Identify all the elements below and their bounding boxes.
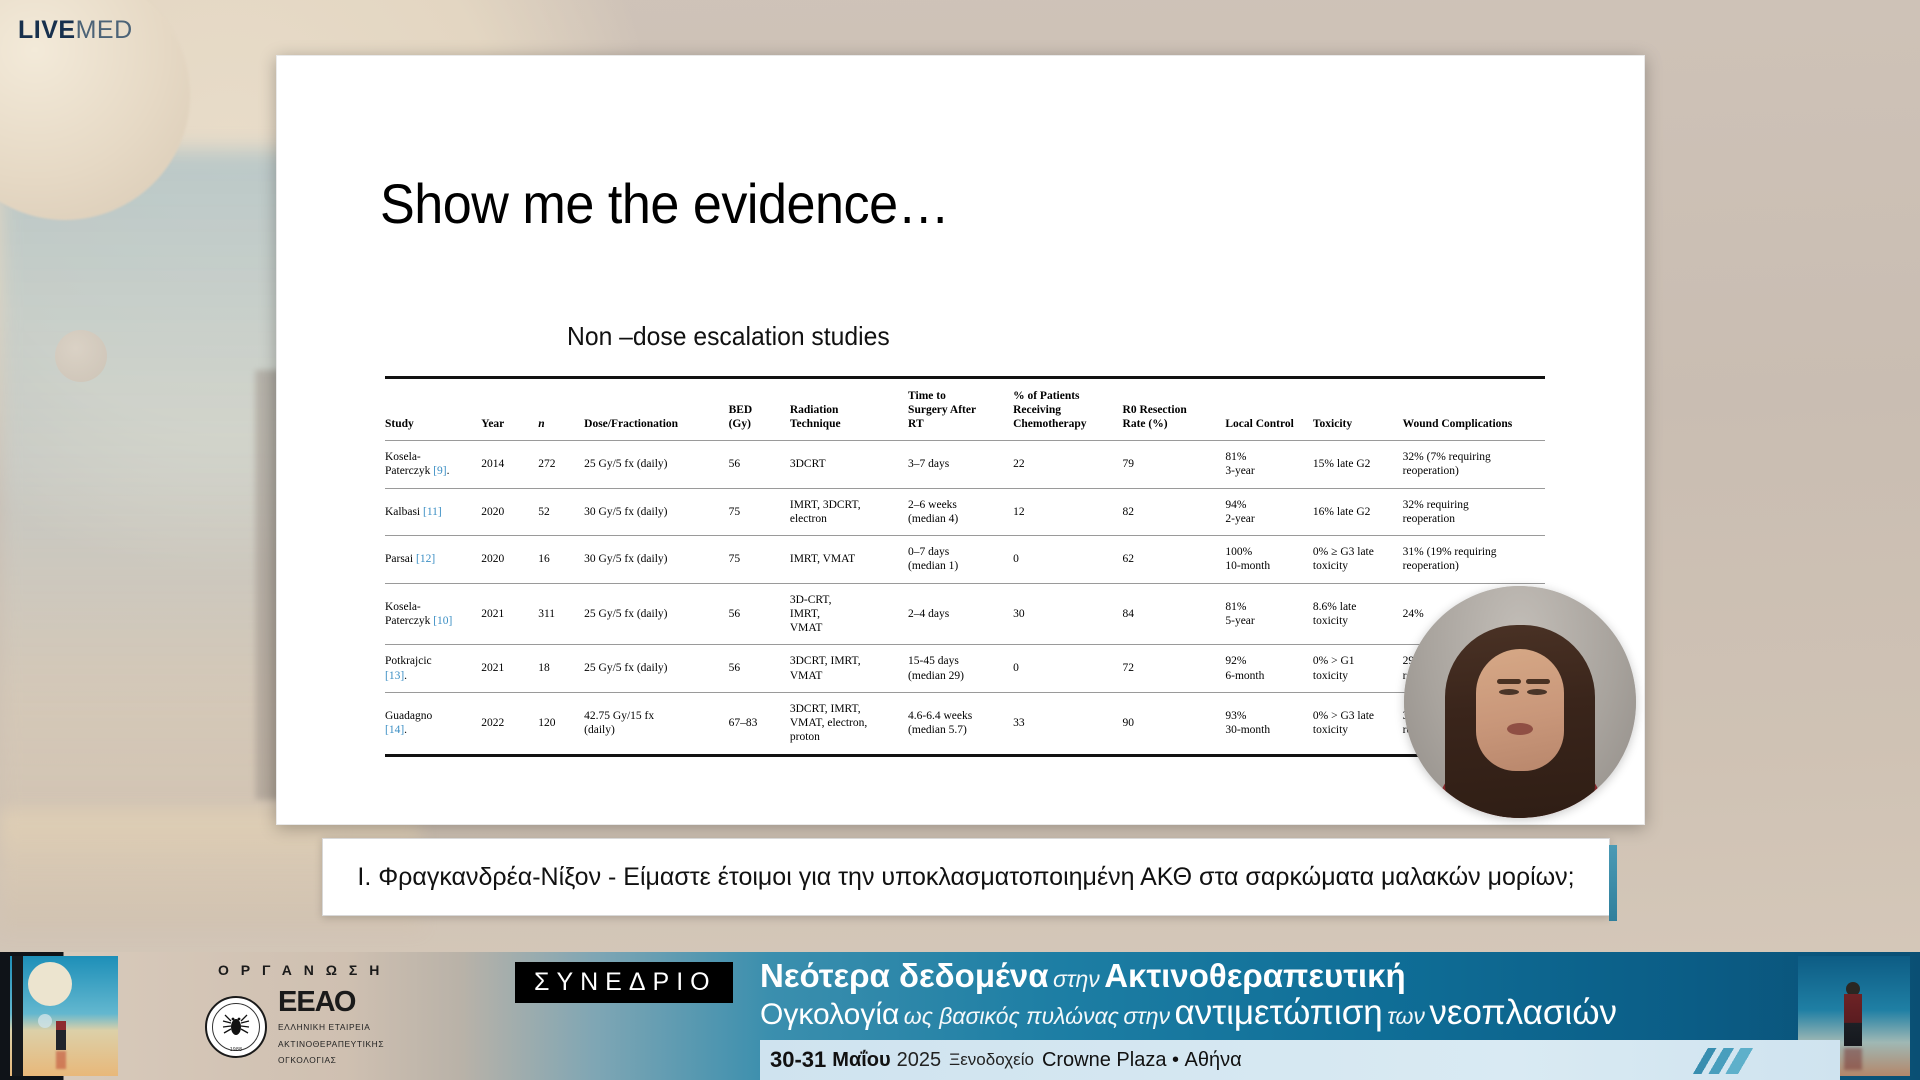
cell-chemotherapy: 12 [1013, 488, 1122, 536]
cell-chemotherapy: 30 [1013, 583, 1122, 645]
cell-year: 2020 [481, 536, 538, 584]
eeao-text-block: ΕΕΑΟ ΕΛΛΗΝΙΚΗ ΕΤΑΙΡΕΙΑ ΑΚΤΙΝΟΘΕΡΑΠΕΥΤΙΚΗ… [278, 988, 384, 1067]
cell-n: 120 [538, 692, 584, 755]
evidence-table: Study Year n Dose/Fractionation BED (Gy)… [385, 376, 1545, 757]
cell-technique: IMRT, VMAT [790, 536, 908, 584]
cell-r0-resection: 62 [1123, 536, 1226, 584]
headline-1-a: Νεότερα δεδομένα [760, 957, 1049, 994]
event-venue-label: Ξενοδοχείο [949, 1050, 1034, 1070]
cell-dose: 30 Gy/5 fx (daily) [584, 488, 728, 536]
cell-local-control: 81% 5-year [1225, 583, 1313, 645]
table-header-row: Study Year n Dose/Fractionation BED (Gy)… [385, 378, 1545, 441]
cell-dose: 25 Gy/5 fx (daily) [584, 441, 728, 489]
event-headline: Νεότερα δεδομένα στην Ακτινοθεραπευτική … [760, 958, 1617, 1031]
eeao-subtitle-1: ΕΛΛΗΝΙΚΗ ΕΤΑΙΡΕΙΑ [278, 1021, 384, 1034]
study-reference-link[interactable]: [14] [385, 724, 404, 736]
event-date-days: 30-31 [770, 1047, 826, 1073]
table-row: Kosela- Paterczyk [10]202131125 Gy/5 fx … [385, 583, 1545, 645]
webcam-eyebrow-right [1526, 679, 1550, 684]
cell-dose: 42.75 Gy/15 fx (daily) [584, 692, 728, 755]
event-date-month: Μαΐου [832, 1049, 890, 1072]
cell-wound-complications: 32% (7% requiring reoperation) [1403, 441, 1545, 489]
banner-left-artwork [10, 956, 118, 1076]
headline-2-c: στην [1123, 1003, 1170, 1029]
screen-root: LIVEMED Show me the evidence… Non –dose … [0, 0, 1920, 1080]
col-header-toxicity: Toxicity [1313, 378, 1403, 441]
cell-year: 2021 [481, 583, 538, 645]
col-header-n: n [538, 378, 584, 441]
study-reference-link[interactable]: [9] [433, 465, 446, 477]
logo-live-text: LIVE [18, 16, 76, 44]
background-moon-icon [55, 330, 107, 382]
seal-year-text: 1988 [230, 1047, 242, 1053]
study-reference-link[interactable]: [10] [433, 615, 452, 627]
banner-right-figure [1844, 994, 1862, 1046]
cell-year: 2014 [481, 441, 538, 489]
cell-r0-resection: 82 [1123, 488, 1226, 536]
col-header-wound-complications: Wound Complications [1403, 378, 1545, 441]
col-header-r0-resection: R0 Resection Rate (%) [1123, 378, 1226, 441]
cell-time-to-surgery: 15-45 days (median 29) [908, 645, 1013, 693]
cell-year: 2021 [481, 645, 538, 693]
banner-swoosh-icon [1685, 1048, 1762, 1074]
event-type-tag: ΣΥΝΕΔΡΙΟ [515, 962, 733, 1003]
cell-technique: 3DCRT, IMRT, VMAT [790, 645, 908, 693]
headline-1-c: Ακτινοθεραπευτική [1104, 957, 1405, 994]
eeao-seal-emblem: 1988 [205, 996, 267, 1058]
cell-chemotherapy: 0 [1013, 645, 1122, 693]
cell-toxicity: 0% > G3 late toxicity [1313, 692, 1403, 755]
cell-time-to-surgery: 2–4 days [908, 583, 1013, 645]
cell-technique: 3D-CRT, IMRT, VMAT [790, 583, 908, 645]
cell-dose: 25 Gy/5 fx (daily) [584, 583, 728, 645]
eeao-logo: 1988 ΕΕΑΟ ΕΛΛΗΝΙΚΗ ΕΤΑΙΡΕΙΑ ΑΚΤΙΝΟΘΕΡΑΠΕ… [205, 988, 384, 1067]
col-header-year: Year [481, 378, 538, 441]
cell-local-control: 92% 6-month [1225, 645, 1313, 693]
table-row: Kalbasi [11]20205230 Gy/5 fx (daily)75IM… [385, 488, 1545, 536]
cell-local-control: 100% 10-month [1225, 536, 1313, 584]
logo-med-text: MED [76, 16, 133, 44]
banner-left-reflection [56, 1051, 66, 1069]
cell-bed: 67–83 [729, 692, 790, 755]
cell-bed: 75 [729, 536, 790, 584]
cell-bed: 75 [729, 488, 790, 536]
session-caption-bar: Ι. Φραγκανδρέα-Νίξον - Είμαστε έτοιμοι γ… [322, 838, 1610, 916]
cell-toxicity: 8.6% late toxicity [1313, 583, 1403, 645]
table-row: Parsai [12]20201630 Gy/5 fx (daily)75IMR… [385, 536, 1545, 584]
eeao-subtitle-2: ΑΚΤΙΝΟΘΕΡΑΠΕΥΤΙΚΗΣ [278, 1038, 384, 1051]
cell-technique: 3DCRT, IMRT, VMAT, electron, proton [790, 692, 908, 755]
event-date-year: 2025 [897, 1049, 942, 1072]
cell-study: Kalbasi [11] [385, 488, 481, 536]
cell-n: 16 [538, 536, 584, 584]
cell-local-control: 94% 2-year [1225, 488, 1313, 536]
event-headline-line-2: Ογκολογία ως βασικός πυλώνας στην αντιμε… [760, 994, 1617, 1032]
cell-study: Kosela- Paterczyk [10] [385, 583, 481, 645]
col-header-dose: Dose/Fractionation [584, 378, 728, 441]
cell-year: 2022 [481, 692, 538, 755]
cell-time-to-surgery: 0–7 days (median 1) [908, 536, 1013, 584]
col-header-local-control: Local Control [1225, 378, 1313, 441]
study-reference-link[interactable]: [13] [385, 670, 404, 682]
cell-chemotherapy: 0 [1013, 536, 1122, 584]
cell-local-control: 81% 3-year [1225, 441, 1313, 489]
evidence-table-wrapper: Study Year n Dose/Fractionation BED (Gy)… [385, 376, 1545, 757]
eeao-acronym: ΕΕΑΟ [278, 988, 384, 1017]
cell-bed: 56 [729, 645, 790, 693]
event-headline-line-1: Νεότερα δεδομένα στην Ακτινοθεραπευτική [760, 958, 1617, 994]
banner-left-figure [56, 1024, 66, 1050]
col-header-technique: Radiation Technique [790, 378, 908, 441]
cell-dose: 30 Gy/5 fx (daily) [584, 536, 728, 584]
cell-chemotherapy: 22 [1013, 441, 1122, 489]
table-body: Kosela- Paterczyk [9].201427225 Gy/5 fx … [385, 441, 1545, 756]
cell-n: 52 [538, 488, 584, 536]
session-caption-text: Ι. Φραγκανδρέα-Νίξον - Είμαστε έτοιμοι γ… [357, 861, 1574, 893]
cell-toxicity: 16% late G2 [1313, 488, 1403, 536]
cell-dose: 25 Gy/5 fx (daily) [584, 645, 728, 693]
cell-time-to-surgery: 3–7 days [908, 441, 1013, 489]
col-header-chemotherapy: % of Patients Receiving Chemotherapy [1013, 378, 1122, 441]
col-header-study: Study [385, 378, 481, 441]
event-venue-name: Crowne Plaza • Αθήνα [1042, 1049, 1242, 1072]
cell-technique: 3DCRT [790, 441, 908, 489]
crab-icon [221, 1013, 251, 1039]
table-row: Potkrajcic [13].20211825 Gy/5 fx (daily)… [385, 645, 1545, 693]
cell-local-control: 93% 30-month [1225, 692, 1313, 755]
cell-technique: IMRT, 3DCRT, electron [790, 488, 908, 536]
cell-year: 2020 [481, 488, 538, 536]
cell-bed: 56 [729, 583, 790, 645]
cell-n: 311 [538, 583, 584, 645]
cell-r0-resection: 84 [1123, 583, 1226, 645]
table-caption: Non –dose escalation studies [567, 321, 890, 352]
headline-2-a: Ογκολογία [760, 998, 899, 1031]
cell-study: Kosela- Paterczyk [9]. [385, 441, 481, 489]
col-header-bed: BED (Gy) [729, 378, 790, 441]
study-reference-link[interactable]: [12] [416, 553, 435, 565]
cell-wound-complications: 31% (19% requiring reoperation) [1403, 536, 1545, 584]
cell-study: Potkrajcic [13]. [385, 645, 481, 693]
banner-left-moon-icon [38, 1014, 52, 1028]
cell-r0-resection: 72 [1123, 645, 1226, 693]
livemed-logo: LIVEMED [18, 16, 133, 45]
study-reference-link[interactable]: [11] [423, 506, 442, 518]
cell-toxicity: 0% > G1 toxicity [1313, 645, 1403, 693]
event-date-strip: 30-31 Μαΐου 2025 Ξενοδοχείο Crowne Plaza… [760, 1040, 1840, 1080]
webcam-face [1476, 649, 1564, 771]
organization-label: Ο Ρ Γ Α Ν Ω Σ Η [218, 962, 383, 978]
cell-study: Parsai [12] [385, 536, 481, 584]
webcam-eyebrow-left [1497, 679, 1521, 684]
cell-chemotherapy: 33 [1013, 692, 1122, 755]
cell-n: 18 [538, 645, 584, 693]
banner-right-reflection [1844, 1048, 1862, 1070]
headline-2-f: νεοπλασιών [1429, 993, 1617, 1032]
headline-2-d: αντιμετώπιση [1175, 993, 1383, 1032]
banner-left-sun-icon [28, 962, 72, 1006]
cell-r0-resection: 90 [1123, 692, 1226, 755]
headline-1-b: στην [1053, 966, 1100, 992]
slide-title: Show me the evidence… [380, 171, 949, 236]
headline-2-e: των [1387, 1003, 1425, 1029]
cell-toxicity: 0% ≥ G3 late toxicity [1313, 536, 1403, 584]
webcam-mouth [1507, 723, 1533, 735]
table-row: Kosela- Paterczyk [9].201427225 Gy/5 fx … [385, 441, 1545, 489]
cell-r0-resection: 79 [1123, 441, 1226, 489]
col-header-time-to-surgery: Time to Surgery After RT [908, 378, 1013, 441]
cell-toxicity: 15% late G2 [1313, 441, 1403, 489]
banner-left-bar [12, 956, 23, 1076]
table-row: Guadagno [14].202212042.75 Gy/15 fx (dai… [385, 692, 1545, 755]
cell-study: Guadagno [14]. [385, 692, 481, 755]
cell-time-to-surgery: 4.6-6.4 weeks (median 5.7) [908, 692, 1013, 755]
cell-bed: 56 [729, 441, 790, 489]
headline-2-b: ως βασικός πυλώνας [904, 1003, 1119, 1029]
cell-n: 272 [538, 441, 584, 489]
speaker-webcam-bubble[interactable] [1404, 586, 1636, 818]
cell-wound-complications: 32% requiring reoperation [1403, 488, 1545, 536]
cell-time-to-surgery: 2–6 weeks (median 4) [908, 488, 1013, 536]
table-header: Study Year n Dose/Fractionation BED (Gy)… [385, 378, 1545, 441]
eeao-subtitle-3: ΟΓΚΟΛΟΓΙΑΣ [278, 1054, 384, 1067]
